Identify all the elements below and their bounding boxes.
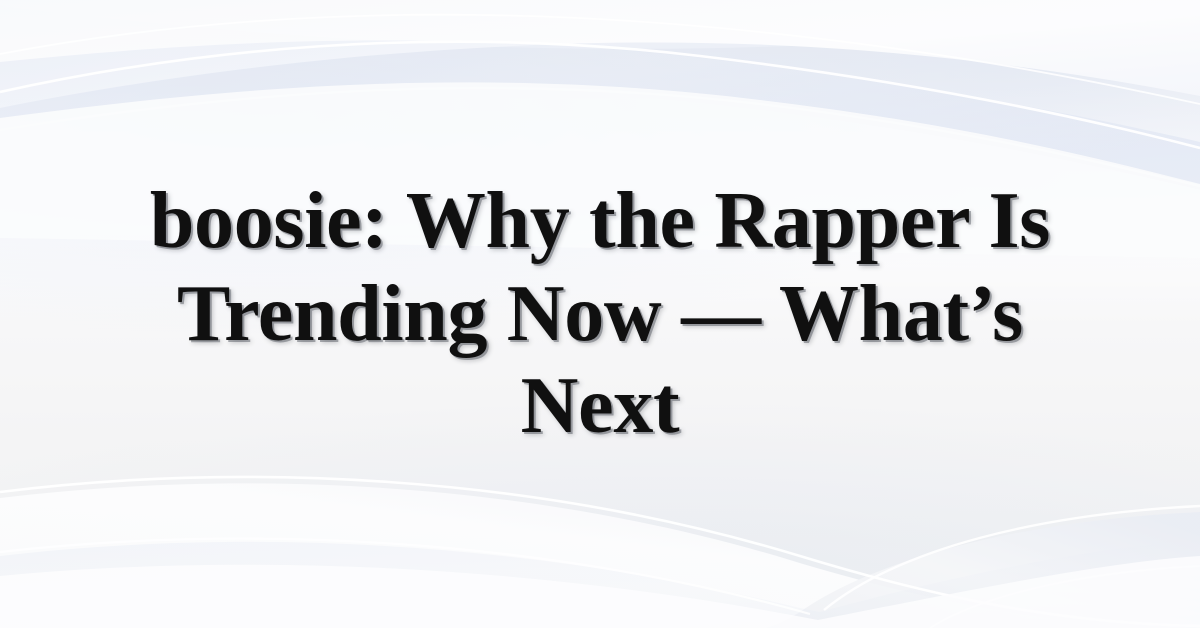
og-image-card: boosie: Why the Rapper Is Trending Now —…: [0, 0, 1200, 628]
page-title: boosie: Why the Rapper Is Trending Now —…: [96, 175, 1104, 453]
title-container: boosie: Why the Rapper Is Trending Now —…: [0, 0, 1200, 628]
